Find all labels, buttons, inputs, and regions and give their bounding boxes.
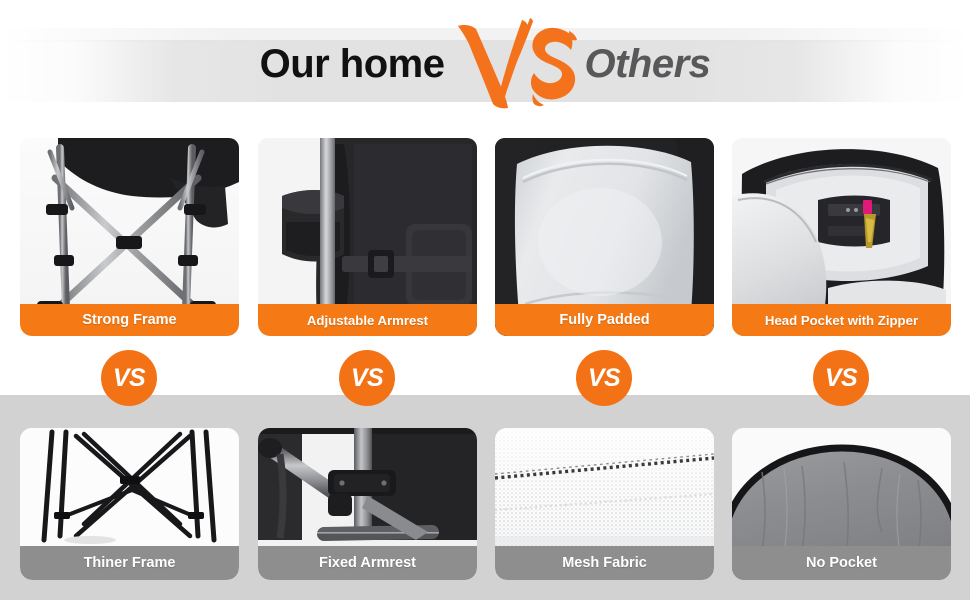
label-ours-fully-padded: Fully Padded [495,304,714,336]
card-ours-adjustable-armrest: Adjustable Armrest [258,138,477,336]
vs-badge-4: VS [813,350,869,406]
card-theirs-fixed-armrest: Fixed Armrest [258,428,477,580]
vs-badge-2: VS [339,350,395,406]
card-theirs-thiner-frame: Thiner Frame [20,428,239,580]
label-ours-strong-frame: Strong Frame [20,304,239,336]
page-title-theirs: Others [584,44,710,88]
label-theirs-mesh-fabric: Mesh Fabric [495,546,714,580]
vs-badge-3: VS [576,350,632,406]
card-theirs-mesh-fabric: Mesh Fabric [495,428,714,580]
card-theirs-no-pocket: No Pocket [732,428,951,580]
vs-badge-1: VS [101,350,157,406]
label-ours-adjustable-armrest: Adjustable Armrest [258,304,477,336]
label-ours-head-pocket: Head Pocket with Zipper [732,304,951,336]
ours-row: Strong Frame [0,138,970,336]
theirs-row: Thiner Frame [0,428,970,580]
vs-brush-logo-icon [450,18,582,114]
label-theirs-fixed-armrest: Fixed Armrest [258,546,477,580]
page-title-ours: Our home [260,44,445,88]
card-ours-strong-frame: Strong Frame [20,138,239,336]
card-ours-head-pocket: Head Pocket with Zipper [732,138,951,336]
header-banner: Our home Others [0,0,970,132]
label-theirs-no-pocket: No Pocket [732,546,951,580]
header-content: Our home Others [0,0,970,132]
label-theirs-thiner-frame: Thiner Frame [20,546,239,580]
card-ours-fully-padded: Fully Padded [495,138,714,336]
